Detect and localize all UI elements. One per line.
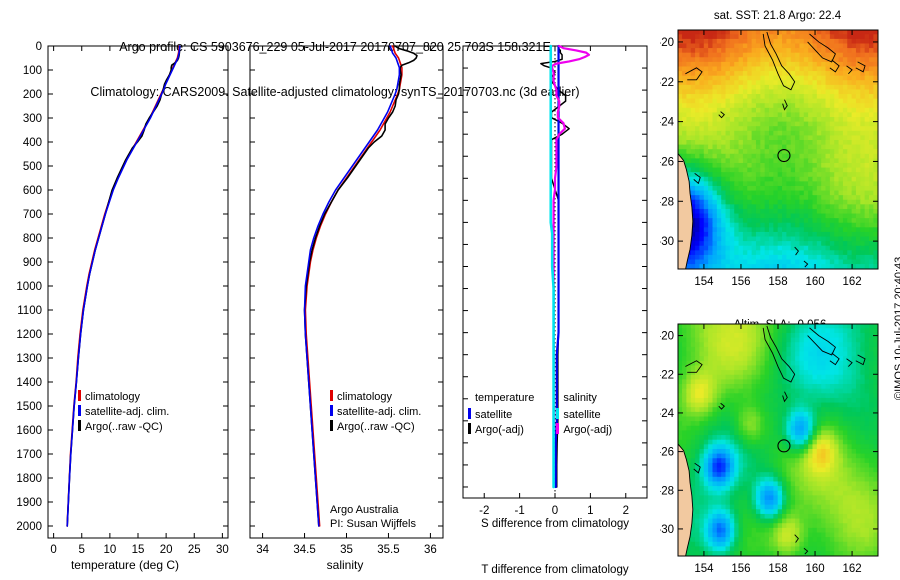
salinity-legend-row: satellite-adj. clim.	[330, 403, 421, 418]
x-tick-label: 0	[50, 544, 56, 556]
depth-tick-label: 500	[23, 161, 42, 173]
sla-map: 154156158160162-20-22-24-26-28-30	[660, 320, 900, 578]
x-tick-label: 34	[256, 544, 269, 556]
depth-tick-label: 900	[23, 257, 42, 269]
temperature-legend-row: satellite-adj. clim.	[78, 403, 169, 418]
s-diff-tick-label: 0.5	[618, 40, 634, 43]
s-difference-axis-label: S difference from climatology	[455, 518, 655, 530]
legend-label: satellite	[563, 409, 600, 421]
legend-color-swatch	[468, 423, 471, 434]
longitude-tick-label: 160	[805, 276, 824, 288]
t-diff-tick-label: 2	[623, 505, 629, 517]
depth-tick-label: 1900	[16, 497, 42, 509]
temperature-argo-line	[67, 46, 179, 526]
sst-map: 154156158160162-20-22-24-26-28-30	[660, 26, 900, 291]
legend-color-swatch	[78, 420, 81, 431]
depth-tick-label: 2000	[16, 521, 42, 533]
latitude-tick-label: -30	[660, 524, 674, 536]
legend-label: climatology	[337, 391, 392, 403]
depth-tick-label: 1400	[16, 377, 42, 389]
longitude-tick-label: 162	[842, 563, 861, 575]
x-tick-label: 25	[188, 544, 201, 556]
latitude-tick-label: -22	[660, 369, 674, 381]
argo-pi: PI: Susan Wijffels	[330, 517, 416, 531]
latitude-tick-label: -26	[660, 156, 674, 168]
depth-tick-label: 400	[23, 137, 42, 149]
s-diff-tick-label: 0.25	[579, 40, 601, 43]
t-diff-tick-label: 0	[552, 505, 558, 517]
x-tick-label: 34.5	[293, 544, 315, 556]
temperature-legend-row: Argo(..raw -QC)	[78, 418, 169, 433]
longitude-tick-label: 154	[694, 276, 714, 288]
copyright-wrap: ©IMOS 10-Jul-2017 20:40:43	[893, 400, 900, 412]
difference-legend-column: temperaturesatelliteArgo(-adj)	[468, 391, 534, 436]
s-diff-tick-label: 0	[552, 40, 558, 43]
legend-label: satellite-adj. clim.	[337, 406, 421, 418]
x-tick-label: 35	[340, 544, 353, 556]
x-tick-label: 10	[103, 544, 116, 556]
salinity-climatology-line	[305, 46, 402, 526]
depth-tick-label: 200	[23, 89, 42, 101]
latitude-tick-label: -28	[660, 485, 674, 497]
legend-label: Argo(-adj)	[475, 424, 524, 436]
salinity-plot: 3434.53535.536	[240, 40, 455, 580]
copyright-text: ©IMOS 10-Jul-2017 20:40:43	[893, 257, 900, 400]
legend-label: Argo(..raw -QC)	[337, 421, 415, 433]
salinity-panel: 3434.53535.536	[240, 40, 455, 580]
depth-tick-label: 1600	[16, 425, 42, 437]
salinity-legend-row: climatology	[330, 388, 421, 403]
x-tick-label: 36	[424, 544, 437, 556]
legend-color-swatch	[556, 408, 559, 419]
depth-tick-label: 300	[23, 113, 42, 125]
t-diff-tick-label: -2	[479, 505, 489, 517]
sst-map-title: sat. SST: 21.8 Argo: 22.4	[660, 9, 895, 23]
legend-label: Argo(-adj)	[563, 424, 612, 436]
x-tick-label: 35.5	[377, 544, 399, 556]
depth-tick-label: 700	[23, 209, 42, 221]
difference-legend-header: temperature	[468, 391, 534, 406]
latitude-tick-label: -24	[660, 117, 675, 129]
t-diff-tick-label: -1	[514, 505, 524, 517]
x-tick-label: 15	[132, 544, 145, 556]
t-difference-axis-label: T difference from climatology	[455, 564, 655, 576]
depth-tick-label: 1000	[16, 281, 42, 293]
depth-tick-label: 1800	[16, 473, 42, 485]
map-field	[678, 324, 879, 557]
s-diff-tick-label: -0.25	[507, 40, 533, 43]
figure-root: Argo profile: CS 5903676_229 05-Jul-2017…	[0, 0, 900, 580]
temperature-legend: climatologysatellite-adj. clim.Argo(..ra…	[78, 388, 169, 433]
longitude-tick-label: 162	[842, 276, 861, 288]
salinity-legend-row: Argo(..raw -QC)	[330, 418, 421, 433]
difference-legend-row: Argo(-adj)	[556, 421, 612, 436]
latitude-tick-label: -28	[660, 196, 674, 208]
temperature-climatology-line	[67, 46, 179, 526]
legend-label: Argo(..raw -QC)	[85, 421, 163, 433]
difference-legend-header: salinity	[556, 391, 612, 406]
difference-legend-column: salinitysatelliteArgo(-adj)	[556, 391, 612, 436]
depth-tick-label: 600	[23, 185, 42, 197]
temperature-axis-label: temperature (deg C)	[30, 558, 220, 572]
depth-tick-label: 0	[36, 41, 42, 53]
s-diff-tick-label: -0.5	[474, 40, 494, 43]
difference-legend-row: satellite	[556, 406, 612, 421]
latitude-tick-label: -20	[660, 37, 674, 49]
latitude-tick-label: -24	[660, 408, 675, 420]
latitude-tick-label: -26	[660, 447, 674, 459]
map-field	[678, 30, 879, 270]
depth-tick-label: 1100	[17, 305, 42, 317]
sla-map-plot: 154156158160162-20-22-24-26-28-30	[660, 320, 900, 578]
temperature-legend-row: climatology	[78, 388, 169, 403]
t-diff-tick-label: 1	[587, 505, 593, 517]
depth-tick-label: 800	[23, 233, 42, 245]
depth-tick-label: 1300	[16, 353, 42, 365]
latitude-tick-label: -30	[660, 236, 674, 248]
latitude-tick-label: -22	[660, 77, 674, 89]
longitude-tick-label: 156	[731, 563, 750, 575]
temperature-plot: 0100200300400500600700800900100011001200…	[0, 40, 240, 580]
legend-label: climatology	[85, 391, 140, 403]
difference-plot: -2-1012-0.5-0.2500.250.5	[455, 40, 655, 580]
difference-legend: temperaturesatelliteArgo(-adj)salinitysa…	[468, 391, 612, 436]
longitude-tick-label: 158	[768, 276, 787, 288]
depth-tick-label: 1500	[16, 401, 42, 413]
legend-label: satellite	[475, 409, 512, 421]
difference-legend-row: satellite	[468, 406, 534, 421]
longitude-tick-label: 154	[694, 563, 714, 575]
x-tick-label: 20	[160, 544, 173, 556]
temperature-panel: 0100200300400500600700800900100011001200…	[0, 40, 240, 580]
legend-color-swatch	[78, 405, 81, 416]
longitude-tick-label: 158	[768, 563, 787, 575]
legend-color-swatch	[330, 420, 333, 431]
depth-tick-label: 100	[23, 65, 42, 77]
sst-map-plot: 154156158160162-20-22-24-26-28-30	[660, 26, 900, 291]
x-tick-label: 5	[79, 544, 85, 556]
temperature-satellite-adj-line	[67, 46, 179, 526]
difference-panel: -2-1012-0.5-0.2500.250.5	[455, 40, 655, 580]
salinity-axis-label: salinity	[255, 558, 435, 572]
latitude-tick-label: -20	[660, 331, 674, 343]
depth-tick-label: 1200	[16, 329, 42, 341]
salinity-legend: climatologysatellite-adj. clim.Argo(..ra…	[330, 388, 421, 433]
longitude-tick-label: 160	[805, 563, 824, 575]
salinity-satellite-adj-line	[305, 46, 400, 526]
legend-label: satellite-adj. clim.	[85, 406, 169, 418]
difference-legend-row: Argo(-adj)	[468, 421, 534, 436]
legend-color-swatch	[468, 408, 471, 419]
legend-color-swatch	[556, 423, 559, 434]
salinity-argo-line	[305, 46, 417, 526]
x-tick-label: 30	[216, 544, 229, 556]
legend-color-swatch	[330, 390, 333, 401]
argo-agency: Argo Australia	[330, 503, 416, 517]
legend-color-swatch	[78, 390, 81, 401]
longitude-tick-label: 156	[731, 276, 750, 288]
depth-tick-label: 1700	[16, 449, 42, 461]
argo-credit: Argo Australia PI: Susan Wijffels	[330, 503, 416, 531]
legend-color-swatch	[330, 405, 333, 416]
